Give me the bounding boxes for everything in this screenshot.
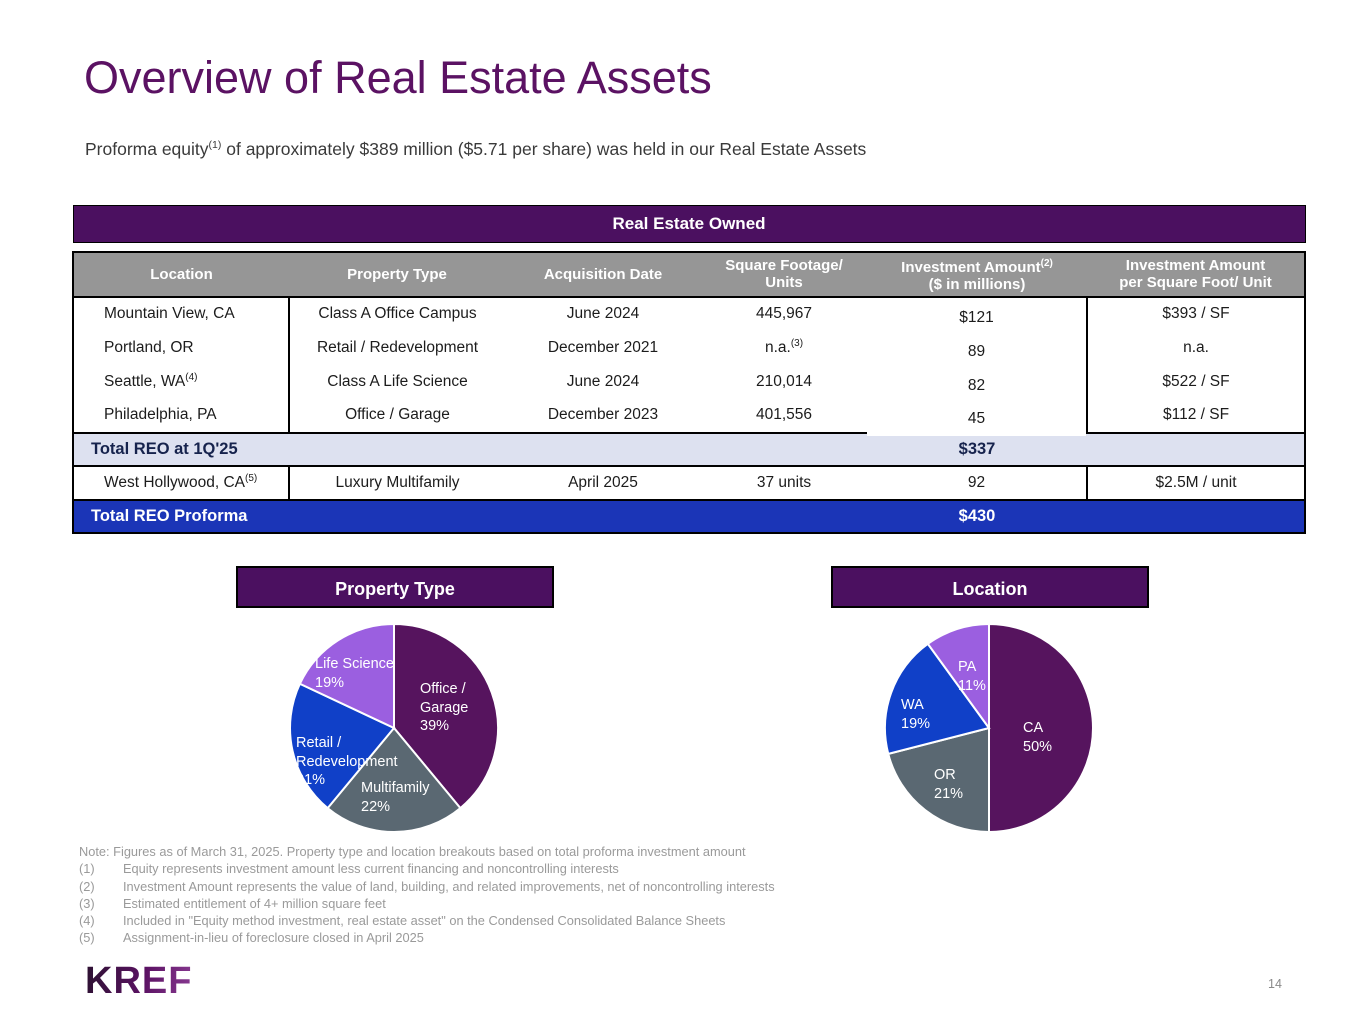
- location-chart-title: Location: [831, 566, 1149, 608]
- cell-location: West Hollywood, CA(5): [73, 466, 289, 500]
- footnote-2: (2)Investment Amount represents the valu…: [79, 878, 979, 895]
- table-row: West Hollywood, CA(5) Luxury Multifamily…: [73, 466, 1305, 500]
- pie-label-or-line1: OR: [934, 767, 956, 783]
- cell-acquisition-date: April 2025: [505, 466, 701, 500]
- footnote-3-num: (3): [79, 895, 123, 912]
- column-header-investment-amount-line2: ($ in millions): [929, 276, 1026, 293]
- column-header-investment-per-unit-line1: Investment Amount: [1126, 257, 1265, 274]
- column-header-square-footage-line2: Units: [765, 274, 803, 291]
- table-row: Seattle, WA(4) Class A Life Science June…: [73, 365, 1305, 399]
- cell-location-text: Seattle, WA: [104, 373, 185, 390]
- cell-property-type: Class A Life Science: [289, 365, 505, 399]
- cell-acquisition-date: June 2024: [505, 297, 701, 331]
- footnote-4-num: (4): [79, 912, 123, 929]
- location-pie-holder: CA 50% OR 21% WA 19% PA 11%: [831, 624, 1149, 854]
- total-reo-proforma-row: Total REO Proforma $430: [73, 500, 1305, 533]
- cell-location: Mountain View, CA: [73, 297, 289, 331]
- table-header-row: Location Property Type Acquisition Date …: [73, 252, 1305, 297]
- pie-label-pa-line1: PA: [958, 659, 976, 675]
- column-header-investment-amount-line1: Investment Amount: [901, 259, 1040, 276]
- footnote-3: (3)Estimated entitlement of 4+ million s…: [79, 895, 979, 912]
- pie-label-wa-line2: 19%: [901, 716, 930, 732]
- cell-square-footage: 445,967: [701, 297, 867, 331]
- subtitle-text-before: Proforma equity: [85, 139, 209, 159]
- page-number: 14: [1268, 977, 1282, 991]
- footnote-3-text: Estimated entitlement of 4+ million squa…: [123, 896, 386, 911]
- footnote-note-num: Note:: [79, 844, 110, 859]
- cell-property-type: Retail / Redevelopment: [289, 331, 505, 365]
- cell-square-footage: 37 units: [701, 466, 867, 500]
- pie-label-office-garage: Office / Garage 39%: [420, 680, 468, 736]
- slide-root: Overview of Real Estate Assets Proforma …: [0, 0, 1365, 1024]
- column-header-investment-per-unit: Investment Amount per Square Foot/ Unit: [1087, 252, 1305, 297]
- total-reo-1q25-label: Total REO at 1Q'25: [73, 433, 289, 466]
- cell-square-footage-text: 445,967: [756, 306, 812, 323]
- pie-label-office-garage-line3: 39%: [420, 718, 449, 734]
- pie-label-office-garage-line1: Office /: [420, 681, 466, 697]
- cell-investment-amount: $121: [867, 301, 1087, 335]
- column-header-acquisition-date: Acquisition Date: [505, 252, 701, 297]
- column-header-location: Location: [73, 252, 289, 297]
- pie-label-ca-line2: 50%: [1023, 739, 1052, 755]
- footnote-2-num: (2): [79, 878, 123, 895]
- cell-square-footage: 401,556: [701, 399, 867, 433]
- column-header-square-footage-line1: Square Footage/: [725, 257, 843, 274]
- kref-logo: KREF: [85, 960, 192, 1003]
- pie-label-office-garage-line2: Garage: [420, 700, 468, 716]
- pie-label-multifamily-line2: 22%: [361, 799, 390, 815]
- footnotes: Note: Figures as of March 31, 2025. Prop…: [79, 843, 979, 947]
- table-row: Mountain View, CA Class A Office Campus …: [73, 297, 1305, 331]
- footnote-5-text: Assignment-in-lieu of foreclosure closed…: [123, 930, 424, 945]
- cell-investment-per-unit: $2.5M / unit: [1087, 466, 1305, 500]
- footnote-2-text: Investment Amount represents the value o…: [123, 879, 775, 894]
- footnote-5: (5)Assignment-in-lieu of foreclosure clo…: [79, 929, 979, 946]
- cell-square-footage-text: 401,556: [756, 407, 812, 424]
- footnote-note: Note: Figures as of March 31, 2025. Prop…: [79, 843, 979, 860]
- table-row: Philadelphia, PA Office / Garage Decembe…: [73, 399, 1305, 433]
- cell-investment-amount: 82: [867, 369, 1087, 403]
- cell-square-footage: n.a.(3): [701, 331, 867, 365]
- pie-label-ca-line1: CA: [1023, 720, 1043, 736]
- cell-property-type: Class A Office Campus: [289, 297, 505, 331]
- cell-investment-per-unit: n.a.: [1087, 331, 1305, 365]
- cell-location-text: West Hollywood, CA: [104, 474, 245, 491]
- cell-investment-per-unit: $522 / SF: [1087, 365, 1305, 399]
- cell-location: Philadelphia, PA: [73, 399, 289, 433]
- column-header-investment-per-unit-line2: per Square Foot/ Unit: [1119, 274, 1272, 291]
- pie-label-pa-line2: 11%: [958, 678, 986, 694]
- pie-label-ca: CA 50%: [1023, 719, 1052, 756]
- pie-label-retail-redevelopment: Retail / Redevelopment 21%: [296, 734, 398, 790]
- location-pie-svg: [831, 624, 1149, 854]
- location-chart-panel: Location CA 50% OR 2: [831, 566, 1149, 854]
- footnote-1-text: Equity represents investment amount less…: [123, 861, 619, 876]
- cell-square-footage-text: n.a.: [765, 339, 791, 356]
- cell-square-footage-text: 210,014: [756, 373, 812, 390]
- subtitle-text-after: of approximately $389 million ($5.71 per…: [221, 139, 866, 159]
- footnote-5-num: (5): [79, 929, 123, 946]
- total-reo-proforma-label: Total REO Proforma: [73, 500, 289, 533]
- footnote-4: (4)Included in "Equity method investment…: [79, 912, 979, 929]
- subtitle: Proforma equity(1) of approximately $389…: [85, 139, 866, 160]
- footnote-4-text: Included in "Equity method investment, r…: [123, 913, 725, 928]
- total-reo-1q25-value: $337: [867, 433, 1087, 466]
- property-type-chart-title: Property Type: [236, 566, 554, 608]
- pie-label-retail-line2: Redevelopment: [296, 754, 398, 770]
- cell-location: Seattle, WA(4): [73, 365, 289, 399]
- cell-property-type: Luxury Multifamily: [289, 466, 505, 500]
- column-header-property-type: Property Type: [289, 252, 505, 297]
- cell-location-sup: (5): [245, 473, 257, 484]
- pie-label-retail-line3: 21%: [296, 772, 325, 788]
- cell-investment-amount: 92: [867, 466, 1087, 500]
- cell-square-footage: 210,014: [701, 365, 867, 399]
- table-spacer: [73, 243, 1305, 252]
- pie-label-or: OR 21%: [934, 766, 963, 803]
- pie-label-pa: PA 11%: [958, 658, 986, 695]
- cell-acquisition-date: June 2024: [505, 365, 701, 399]
- column-header-square-footage: Square Footage/ Units: [701, 252, 867, 297]
- cell-property-type: Office / Garage: [289, 399, 505, 433]
- cell-location-sup: (4): [185, 372, 197, 383]
- property-type-chart-panel: Property Type Office / Garage 39%: [236, 566, 554, 854]
- pie-label-life-science: Life Science 19%: [315, 655, 394, 692]
- total-reo-1q25-row: Total REO at 1Q'25 $337: [73, 433, 1305, 466]
- cell-investment-amount: 45: [867, 403, 1087, 437]
- subtitle-footnote-marker: (1): [209, 139, 222, 151]
- cell-investment-per-unit: $112 / SF: [1087, 399, 1305, 433]
- page-title: Overview of Real Estate Assets: [84, 52, 712, 104]
- pie-label-retail-line1: Retail /: [296, 735, 341, 751]
- column-header-investment-footnote-marker: (2): [1041, 258, 1053, 269]
- cell-investment-amount: 89: [867, 335, 1087, 369]
- property-type-pie-holder: Office / Garage 39% Multifamily 22% Reta…: [236, 624, 554, 854]
- table-banner-label: Real Estate Owned: [73, 206, 1305, 243]
- cell-square-footage-sup: (3): [791, 338, 803, 349]
- table-row: Portland, OR Retail / Redevelopment Dece…: [73, 331, 1305, 365]
- pie-label-wa-line1: WA: [901, 697, 924, 713]
- cell-location-text: Philadelphia, PA: [104, 407, 217, 424]
- table-banner-row: Real Estate Owned: [73, 206, 1305, 243]
- pie-label-life-science-line2: 19%: [315, 675, 344, 691]
- cell-location-text: Mountain View, CA: [104, 306, 235, 323]
- footnote-note-text: Figures as of March 31, 2025. Property t…: [113, 844, 745, 859]
- real-estate-owned-table: Real Estate Owned Location Property Type…: [72, 205, 1304, 534]
- column-header-investment-amount: Investment Amount(2) ($ in millions): [867, 252, 1087, 297]
- pie-label-life-science-line1: Life Science: [315, 656, 394, 672]
- pie-label-wa: WA 19%: [901, 696, 930, 733]
- total-reo-proforma-value: $430: [867, 500, 1087, 533]
- footnote-1-num: (1): [79, 860, 123, 877]
- cell-location-text: Portland, OR: [104, 339, 194, 356]
- cell-acquisition-date: December 2021: [505, 331, 701, 365]
- cell-location: Portland, OR: [73, 331, 289, 365]
- cell-acquisition-date: December 2023: [505, 399, 701, 433]
- cell-investment-per-unit: $393 / SF: [1087, 297, 1305, 331]
- footnote-1: (1)Equity represents investment amount l…: [79, 860, 979, 877]
- pie-label-or-line2: 21%: [934, 786, 963, 802]
